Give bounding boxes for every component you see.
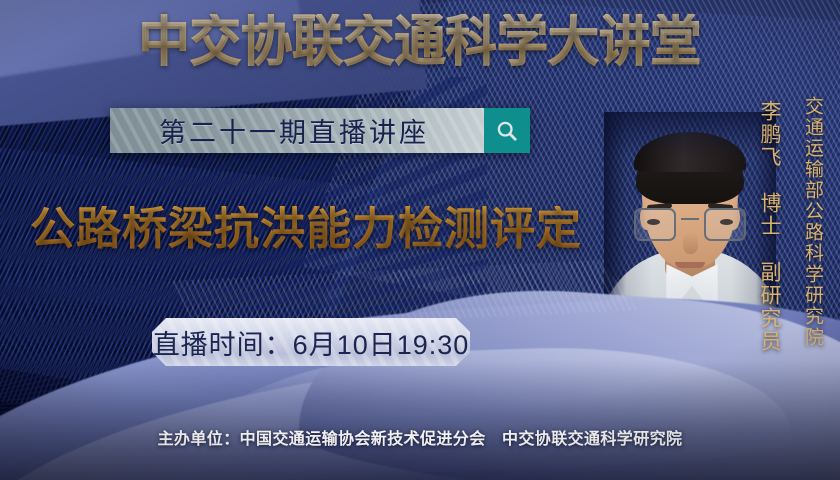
glasses-bridge [681, 218, 699, 220]
silk-shadow-overlay [0, 360, 840, 480]
search-button[interactable] [484, 108, 530, 153]
lecture-title: 公路桥梁抗洪能力检测评定 [30, 206, 582, 251]
webinar-poster: 中交协联交通科学大讲堂 第二十一期直播讲座 公路桥梁抗洪能力检测评定 直播时间：… [0, 0, 840, 480]
session-banner: 第二十一期直播讲座 [110, 108, 530, 153]
session-banner-bar: 第二十一期直播讲座 [110, 108, 484, 153]
search-icon [495, 119, 519, 143]
glasses-lens-right [704, 208, 746, 241]
organizer-footer: 主办单位：中国交通运输协会新技术促进分会 中交协联交通科学研究院 [0, 425, 840, 449]
session-banner-label: 第二十一期直播讲座 [110, 108, 484, 153]
speaker-name-title: 李鹏飞 博士 副研究员 [754, 100, 784, 353]
portrait-nose [683, 232, 698, 254]
portrait-hair-highlight [634, 132, 746, 172]
portrait-mouth [675, 262, 705, 268]
live-time-badge: 直播时间：6月10日19:30 [152, 318, 470, 366]
page-title: 中交协联交通科学大讲堂 [29, 14, 810, 69]
glasses-lens-left [634, 208, 676, 241]
live-time-label: 直播时间：6月10日19:30 [153, 323, 470, 362]
speaker-organization: 交通运输部公路科学研究院 [799, 96, 826, 348]
